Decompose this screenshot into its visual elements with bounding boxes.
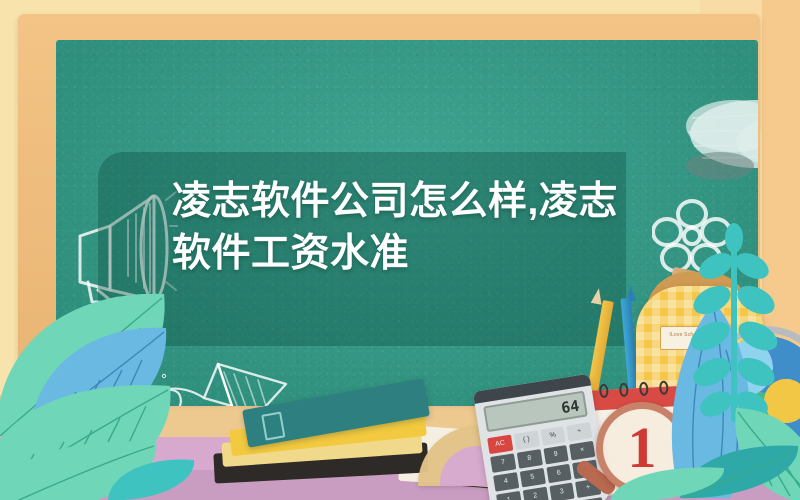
calculator-key: 9 — [543, 445, 569, 465]
calculator-key: ÷ — [566, 422, 592, 442]
calculator-key: 1 — [496, 491, 522, 500]
calculator-key: 4 — [493, 472, 519, 492]
book-cover-mark — [261, 412, 285, 441]
calculator-key: ( ) — [514, 430, 540, 450]
calculator-key: AC — [487, 435, 513, 455]
page-title: 凌志软件公司怎么样,凌志软件工资水准 — [172, 176, 646, 280]
calculator-key: 6 — [546, 464, 572, 484]
calculator-key: 7 — [490, 453, 516, 473]
leaf-mint-bottom-center — [608, 462, 728, 500]
calculator-key: 5 — [520, 468, 546, 488]
leaf-teal-bottom-left — [104, 452, 200, 500]
fern-teal-right — [690, 222, 782, 422]
banner-image: 凌志软件公司怎么样,凌志软件工资水准 ILove School 64 AC ( … — [0, 0, 800, 500]
chalk-smudge-icon — [676, 88, 758, 180]
calculator-key: 2 — [522, 487, 548, 500]
calculator-key: % — [540, 426, 566, 446]
calculator-key: 8 — [517, 449, 543, 469]
calculator-key: 3 — [549, 483, 575, 500]
calculator-key: × — [569, 441, 595, 461]
